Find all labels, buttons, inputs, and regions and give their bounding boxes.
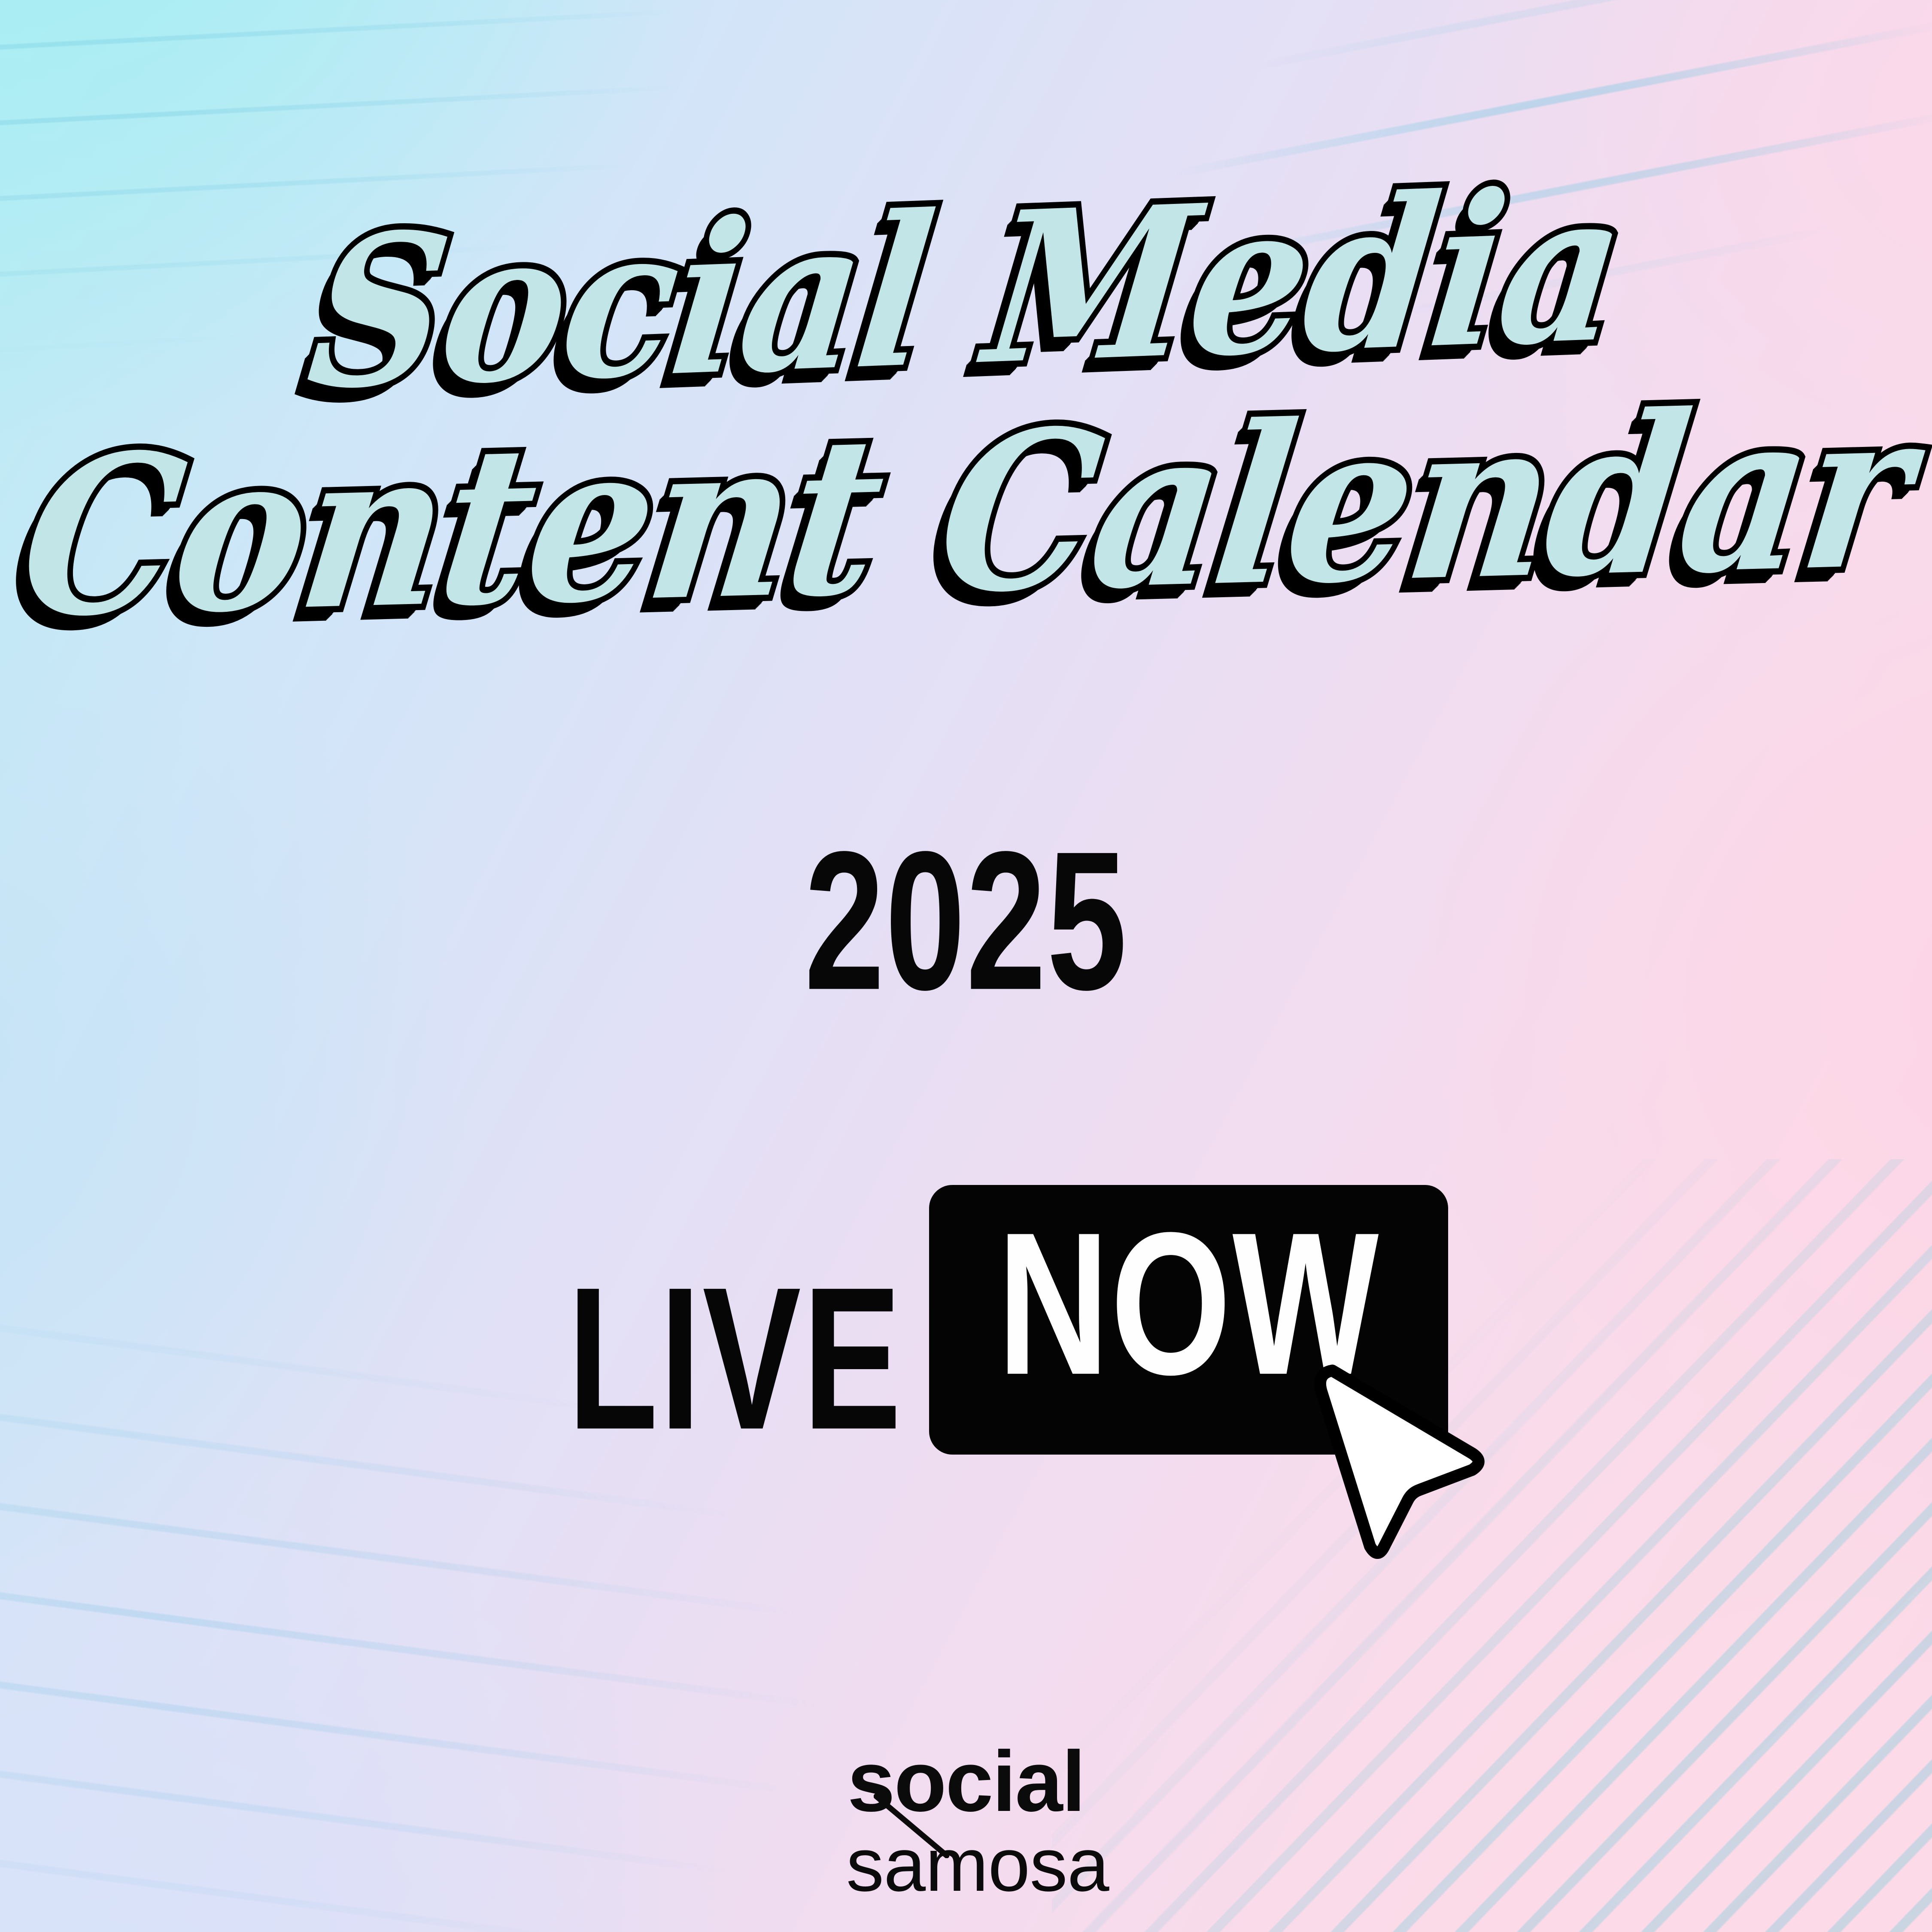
year-label: 2025: [213, 822, 1719, 1020]
brand-logo: social samosa: [0, 1739, 1932, 1903]
live-now-group: LIVE NOW: [0, 1185, 1932, 1455]
page-title: Social Media Content Calendar: [0, 202, 1932, 607]
brand-logo-primary: social: [823, 1739, 1109, 1825]
brand-logo-secondary: samosa: [846, 1827, 1109, 1903]
poster-canvas: Social Media Content Calendar 2025 LIVE …: [0, 0, 1932, 1932]
now-badge[interactable]: NOW: [929, 1185, 1448, 1455]
mouse-pointer-arrow-icon: [1310, 1356, 1495, 1562]
live-label: LIVE: [568, 1257, 903, 1460]
title-line-two: Content Calendar: [0, 383, 1932, 644]
